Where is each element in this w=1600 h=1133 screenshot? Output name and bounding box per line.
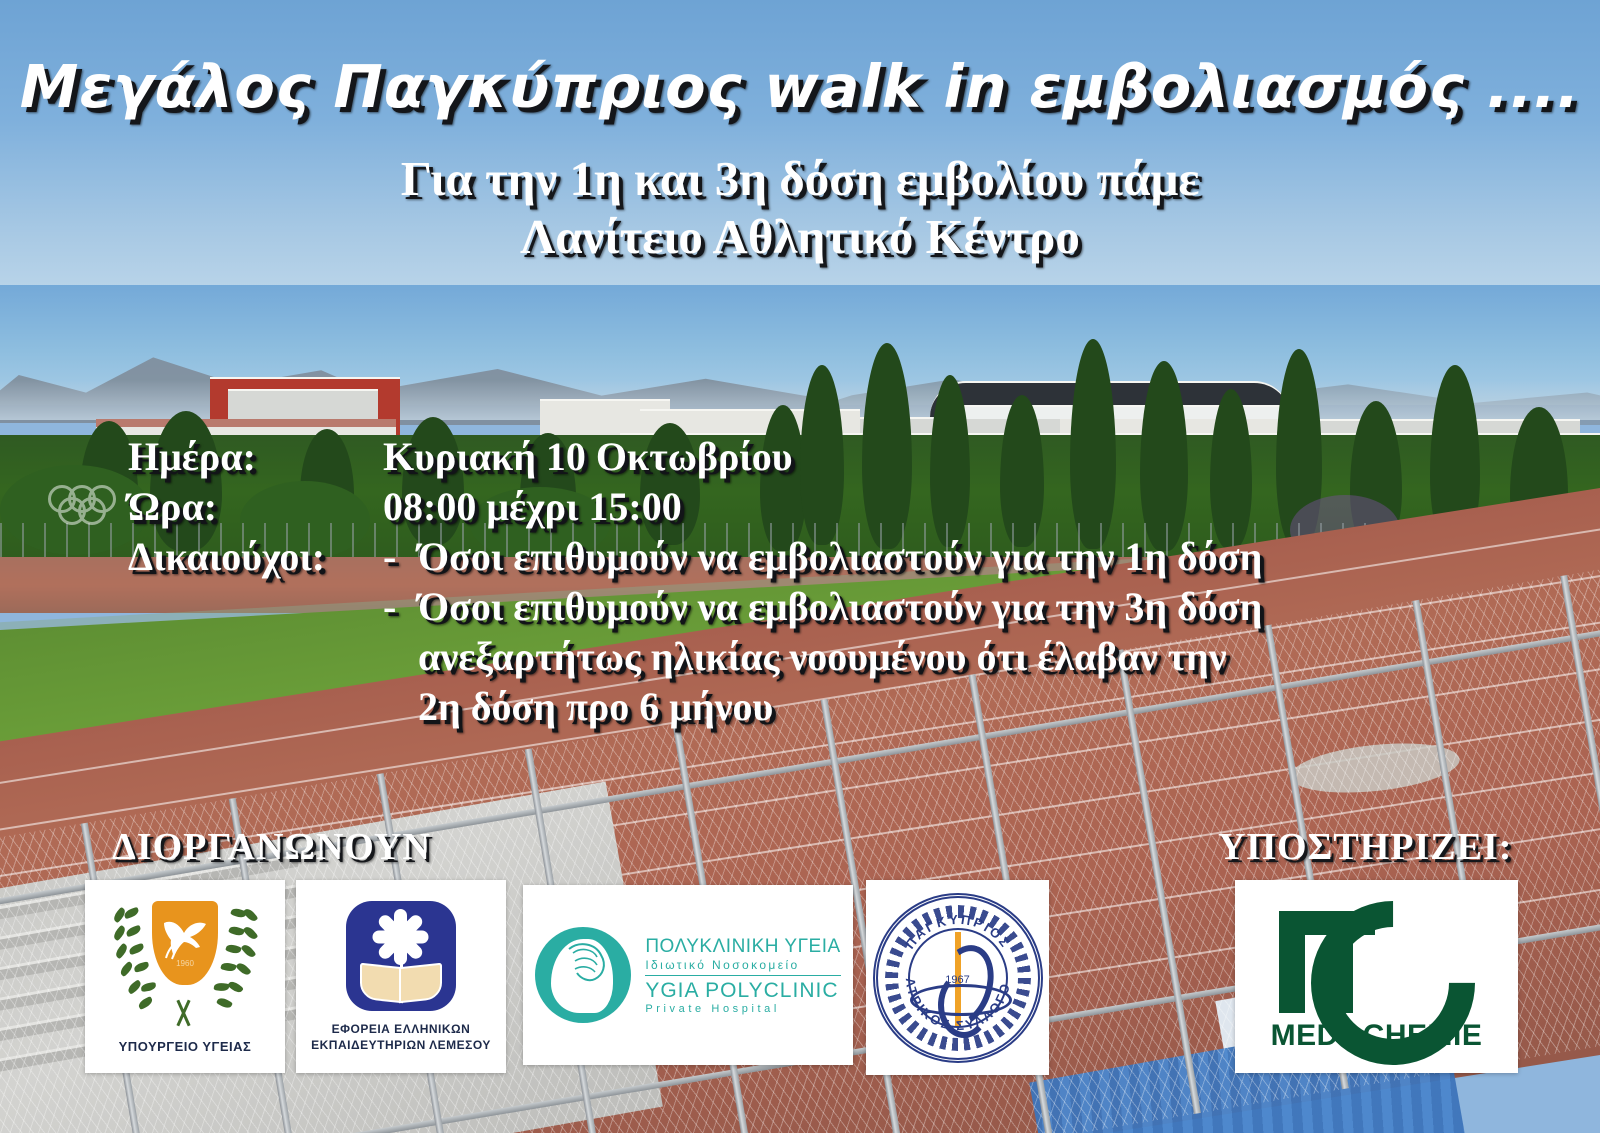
poster-root: Μεγάλος Παγκύπριος walk in εμβολιασμός .… <box>0 0 1600 1133</box>
logo-ygia-polyclinic: ΠΟΛΥΚΛΙΝΙΚΗ ΥΓΕΙΑ Ιδιωτικό Νοσοκομείο YG… <box>523 885 853 1065</box>
poster-title: Μεγάλος Παγκύπριος walk in εμβολιασμός .… <box>0 52 1600 121</box>
eligible-2-line-1: Όσοι επιθυμούν να εμβολιαστούν για την 3… <box>418 582 1548 632</box>
olive-branch-left-icon <box>110 907 170 1019</box>
daisy-book-icon <box>346 901 456 1011</box>
subtitle-line-1: Για την 1η και 3η δόση εμβολίου πάμε <box>0 150 1600 208</box>
day-label: Ημέρα: <box>128 432 383 482</box>
education-board-caption-line-1: ΕΦΟΡΕΙΑ ΕΛΛΗΝΙΚΩΝ <box>311 1021 491 1037</box>
olive-branch-right-icon <box>200 907 260 1019</box>
seal-arc-text: ΠΑΓΚΥΠΡΙΟΣ ΙΑΤΡΙΚΟΣ ΣΥΛΛΟΓΟΣ <box>878 898 1038 1058</box>
ygia-english-name: YGIA POLYCLINIC <box>645 979 840 1003</box>
seal-arc-top: ΠΑΓΚΥΠΡΙΟΣ <box>902 911 1014 951</box>
logo-medochemie: MEDOCHEMIE <box>1235 880 1518 1073</box>
logo-greek-education-board: ΕΦΟΡΕΙΑ ΕΛΛΗΝΙΚΩΝ ΕΚΠΑΙΔΕΥΤΗΡΙΩΝ ΛΕΜΕΣΟΥ <box>296 880 506 1073</box>
crossed-stems-icon <box>166 999 204 1027</box>
poster-subtitle: Για την 1η και 3η δόση εμβολίου πάμε Λαν… <box>0 150 1600 266</box>
organisers-label: ΔΙΟΡΓΑΝΩΝΟΥΝ <box>112 825 431 869</box>
education-board-caption: ΕΦΟΡΕΙΑ ΕΛΛΗΝΙΚΩΝ ΕΚΠΑΙΔΕΥΤΗΡΙΩΝ ΛΕΜΕΣΟΥ <box>311 1021 491 1053</box>
ministry-caption: ΥΠΟΥΡΓΕΙΟ ΥΓΕΙΑΣ <box>119 1039 252 1054</box>
eligible-value-2: Όσοι επιθυμούν να εμβολιαστούν για την 3… <box>418 582 1548 732</box>
hygieia-head-icon <box>535 927 631 1023</box>
ygia-english-sub: Private Hospital <box>645 1003 840 1015</box>
medochemie-monogram-icon <box>1279 901 1475 1013</box>
time-label: Ώρα: <box>128 482 383 532</box>
bullet-dash-1: - <box>383 532 418 582</box>
event-details: Ημέρα: Κυριακή 10 Οκτωβρίου Ώρα: 08:00 μ… <box>128 432 1548 732</box>
subtitle-line-2: Λανίτειο Αθλητικό Κέντρο <box>0 208 1600 266</box>
arms-year: 1960 <box>168 959 202 968</box>
ygia-divider <box>645 975 840 976</box>
detail-row-eligible-1: Δικαιούχοι: - Όσοι επιθυμούν να εμβολιασ… <box>128 532 1548 582</box>
supporter-label: ΥΠΟΣΤΗΡΙΖΕΙ: <box>1218 825 1512 869</box>
time-value: 08:00 μέχρι 15:00 <box>383 482 1548 532</box>
cyprus-coat-of-arms-icon: 1960 <box>110 899 260 1031</box>
logo-cyprus-medical-association: 1967 ΠΑΓΚΥΠΡΙΟΣ ΙΑΤΡΙΚΟΣ ΣΥΛΛΟΓΟΣ <box>866 880 1049 1075</box>
ygia-greek-name: ΠΟΛΥΚΛΙΝΙΚΗ ΥΓΕΙΑ <box>645 936 840 958</box>
education-board-caption-line-2: ΕΚΠΑΙΔΕΥΤΗΡΙΩΝ ΛΕΜΕΣΟΥ <box>311 1037 491 1053</box>
eligible-2-line-3: 2η δόση προ 6 μήνου <box>418 682 1548 732</box>
detail-row-eligible-2: - Όσοι επιθυμούν να εμβολιαστούν για την… <box>128 582 1548 732</box>
medical-association-seal-icon: 1967 ΠΑΓΚΥΠΡΙΟΣ ΙΑΤΡΙΚΟΣ ΣΥΛΛΟΓΟΣ <box>873 893 1043 1063</box>
detail-row-day: Ημέρα: Κυριακή 10 Οκτωβρίου <box>128 432 1548 482</box>
eligible-value-1: Όσοι επιθυμούν να εμβολιαστούν για την 1… <box>418 532 1548 582</box>
day-value: Κυριακή 10 Οκτωβρίου <box>383 432 1548 482</box>
logo-ministry-of-health: 1960 <box>85 880 285 1073</box>
detail-row-time: Ώρα: 08:00 μέχρι 15:00 <box>128 482 1548 532</box>
eligible-label: Δικαιούχοι: <box>128 532 383 582</box>
svg-text:ΠΑΓΚΥΠΡΙΟΣ: ΠΑΓΚΥΠΡΙΟΣ <box>902 911 1014 951</box>
ygia-greek-sub: Ιδιωτικό Νοσοκομείο <box>645 958 840 972</box>
eligible-2-line-2: ανεξαρτήτως ηλικίας νοουμένου ότι έλαβαν… <box>418 632 1548 682</box>
bullet-dash-2: - <box>383 582 418 632</box>
